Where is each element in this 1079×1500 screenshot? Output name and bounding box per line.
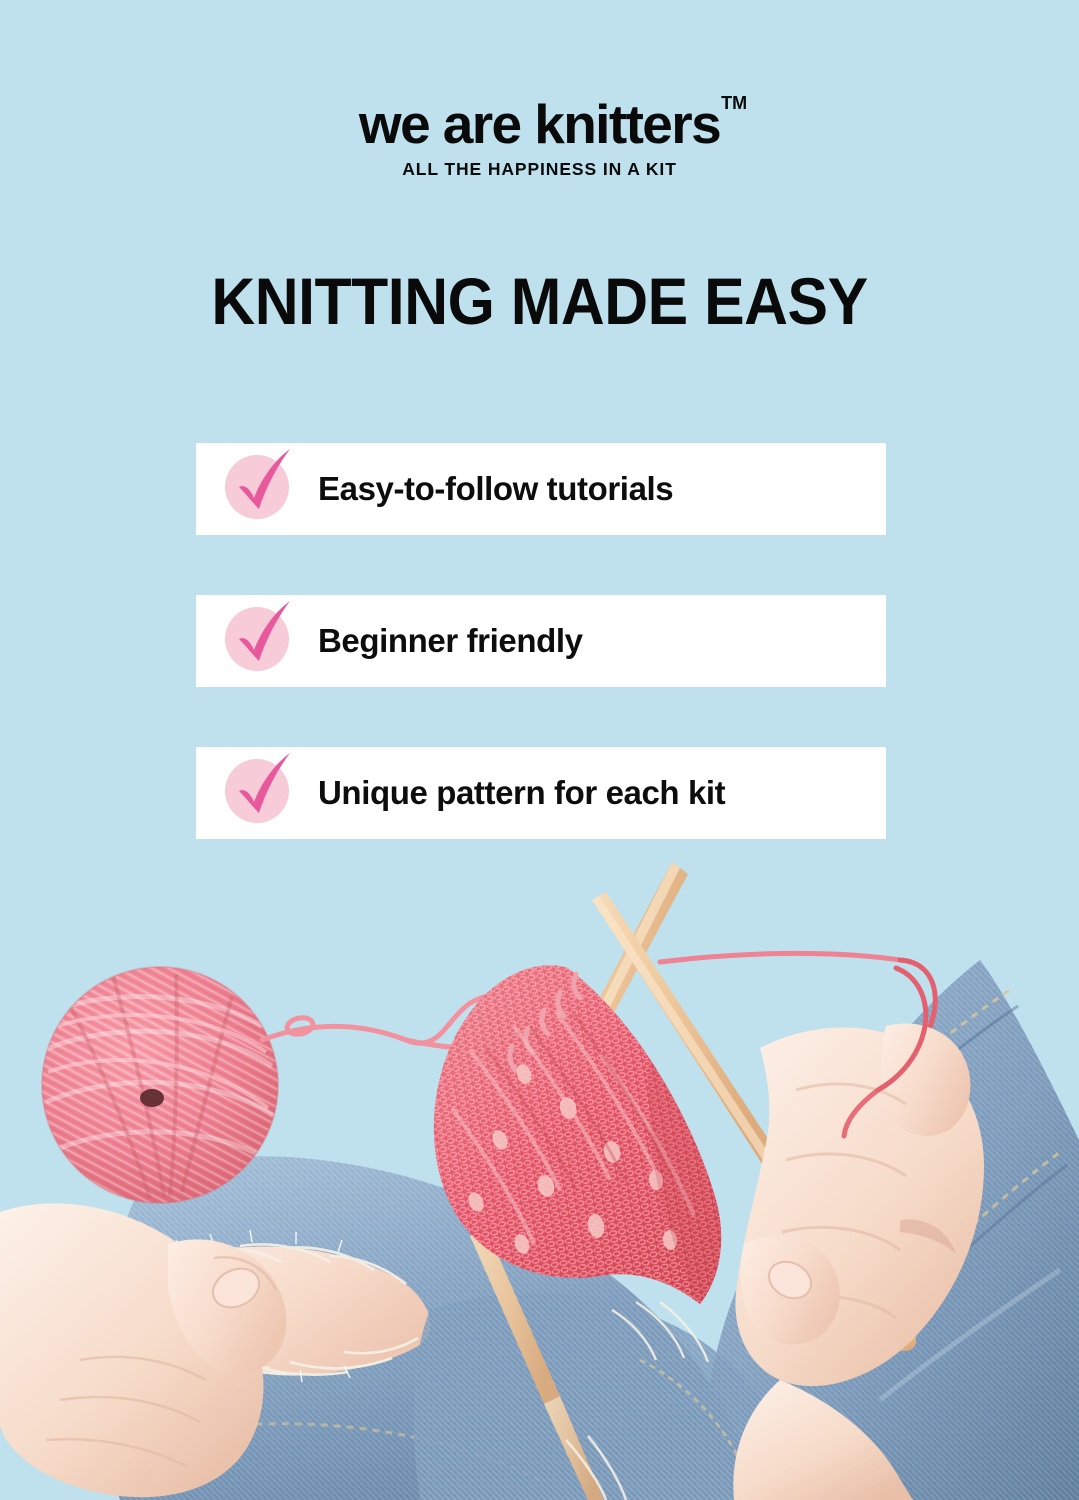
poster-canvas: we are knitters TM ALL THE HAPPINESS IN …: [0, 0, 1079, 1500]
brand-wordmark-text: we are knitters: [359, 93, 720, 155]
yarn-ball-center-hole: [140, 1089, 164, 1107]
brand-tagline: ALL THE HAPPINESS IN A KIT: [0, 159, 1079, 180]
feature-card: Unique pattern for each kit: [196, 747, 886, 839]
feature-label: Beginner friendly: [318, 622, 583, 660]
hero-photo: [0, 840, 1079, 1500]
check-icon: [222, 454, 292, 524]
trademark-symbol: TM: [721, 94, 747, 112]
feature-list: Easy-to-follow tutorials Beginner friend…: [196, 443, 886, 839]
feature-label: Unique pattern for each kit: [318, 774, 725, 812]
feature-card: Beginner friendly: [196, 595, 886, 687]
feature-label: Easy-to-follow tutorials: [318, 470, 673, 508]
check-icon: [222, 606, 292, 676]
brand-block: we are knitters TM ALL THE HAPPINESS IN …: [0, 96, 1079, 180]
brand-wordmark: we are knitters TM: [359, 96, 720, 152]
feature-card: Easy-to-follow tutorials: [196, 443, 886, 535]
check-icon: [222, 758, 292, 828]
page-title: KNITTING MADE EASY: [43, 268, 1036, 334]
